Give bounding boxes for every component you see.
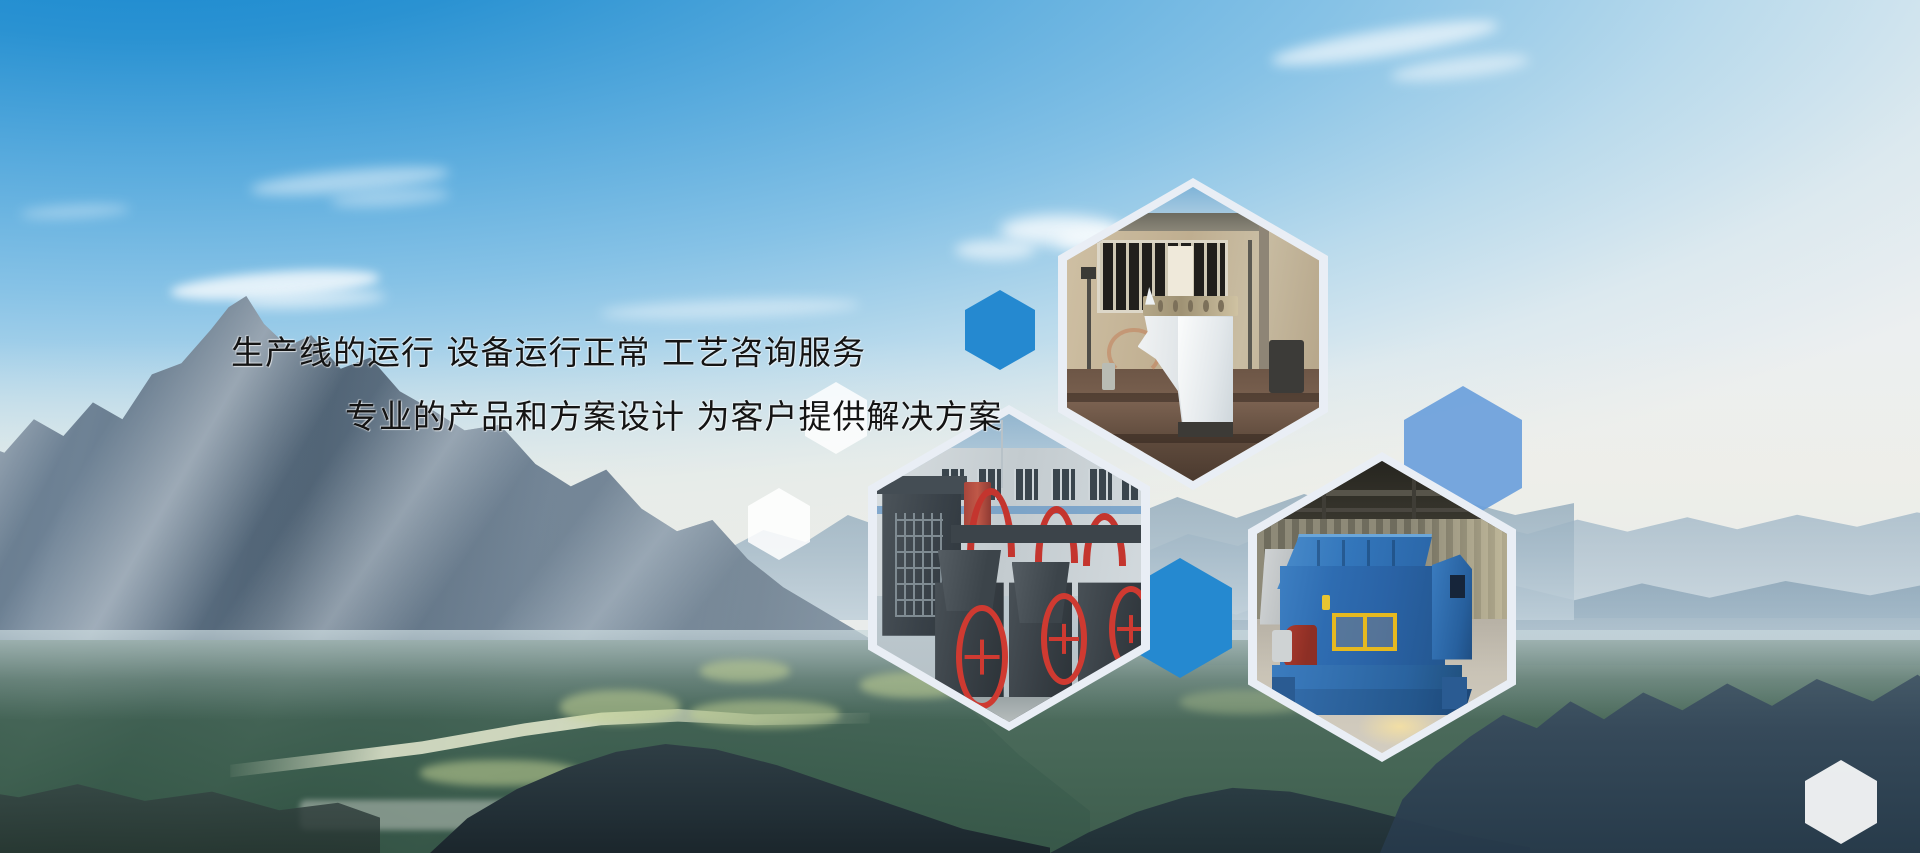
hero-banner: 生产线的运行 设备运行正常 工艺咨询服务 专业的产品和方案设计 为客户提供解决方… — [0, 0, 1920, 853]
headline-line-1: 生产线的运行 设备运行正常 工艺咨询服务 — [231, 336, 866, 371]
cloud — [955, 240, 1035, 260]
meadow — [690, 700, 840, 728]
hex-photo-press-line-image — [877, 414, 1141, 722]
hex-photo-ladle-image — [1067, 187, 1319, 481]
meadow — [560, 690, 680, 724]
headline-line-2: 专业的产品和方案设计 为客户提供解决方案 — [345, 400, 1003, 435]
hex-photo-blue-shredder-image — [1257, 461, 1507, 753]
meadow — [700, 660, 790, 682]
